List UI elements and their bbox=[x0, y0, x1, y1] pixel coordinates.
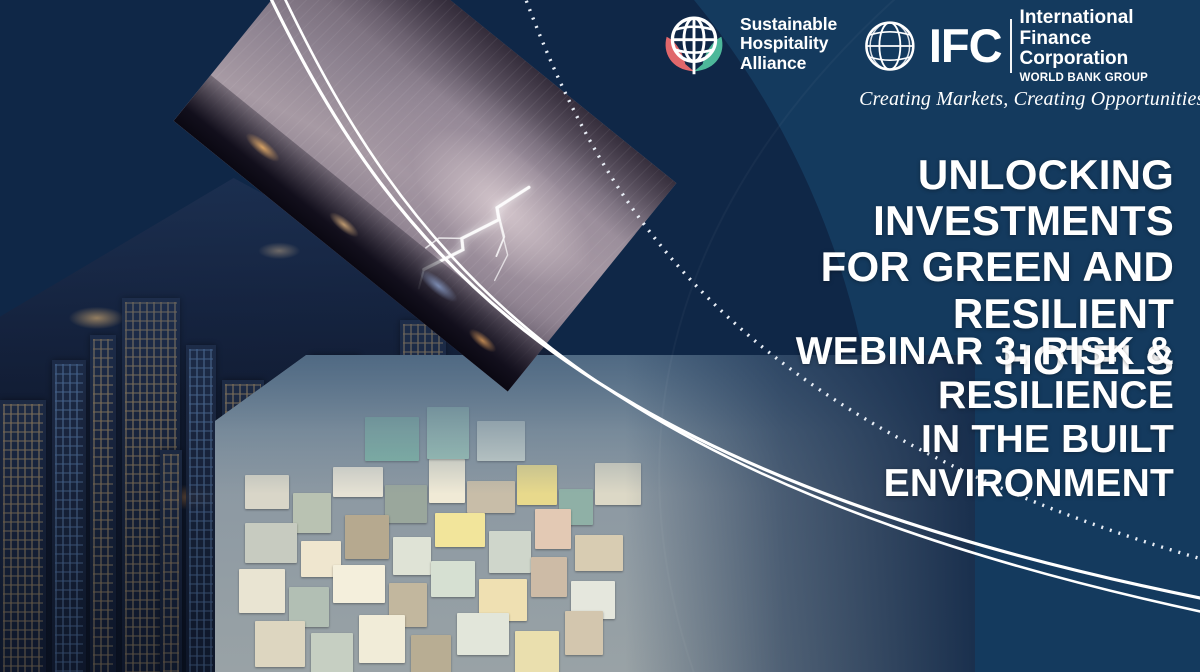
webinar-title-slide: Sustainable Hospitality Alliance IFC bbox=[0, 0, 1200, 672]
ifc-wordmark: IFC bbox=[929, 24, 1002, 67]
ifc-logo: IFC International Finance Corporation WO… bbox=[859, 8, 1200, 111]
sha-line-2: Hospitality bbox=[740, 34, 837, 54]
ifc-name-line-1: International bbox=[1020, 8, 1200, 29]
sha-line-1: Sustainable bbox=[740, 15, 837, 35]
page-subtitle: WEBINAR 3: RISK & RESILIENCE IN THE BUIL… bbox=[774, 330, 1174, 506]
ifc-full-name: International Finance Corporation WORLD … bbox=[1020, 8, 1200, 84]
world-bank-globe-icon bbox=[859, 15, 921, 77]
ifc-divider bbox=[1010, 19, 1012, 73]
ifc-logo-row: IFC International Finance Corporation WO… bbox=[859, 8, 1200, 84]
subhead-line-3: IN THE BUILT bbox=[774, 418, 1174, 462]
subhead-line-4: ENVIRONMENT bbox=[774, 462, 1174, 506]
headline-line-2: FOR GREEN AND RESILIENT bbox=[654, 244, 1174, 336]
ifc-tagline: Creating Markets, Creating Opportunities bbox=[859, 88, 1200, 111]
subhead-line-1: WEBINAR 3: RISK & bbox=[774, 330, 1174, 374]
headline-line-1: UNLOCKING INVESTMENTS bbox=[654, 152, 1174, 244]
sha-wordmark: Sustainable Hospitality Alliance bbox=[740, 15, 837, 74]
ifc-name-line-2: Finance Corporation bbox=[1020, 29, 1200, 70]
sha-line-3: Alliance bbox=[740, 54, 837, 74]
logo-bar: Sustainable Hospitality Alliance IFC bbox=[658, 8, 1200, 111]
sustainable-hospitality-alliance-logo: Sustainable Hospitality Alliance bbox=[658, 8, 837, 80]
ifc-worldbank-line: WORLD BANK GROUP bbox=[1020, 72, 1200, 84]
globe-leaves-icon bbox=[658, 8, 730, 80]
subhead-line-2: RESILIENCE bbox=[774, 374, 1174, 418]
